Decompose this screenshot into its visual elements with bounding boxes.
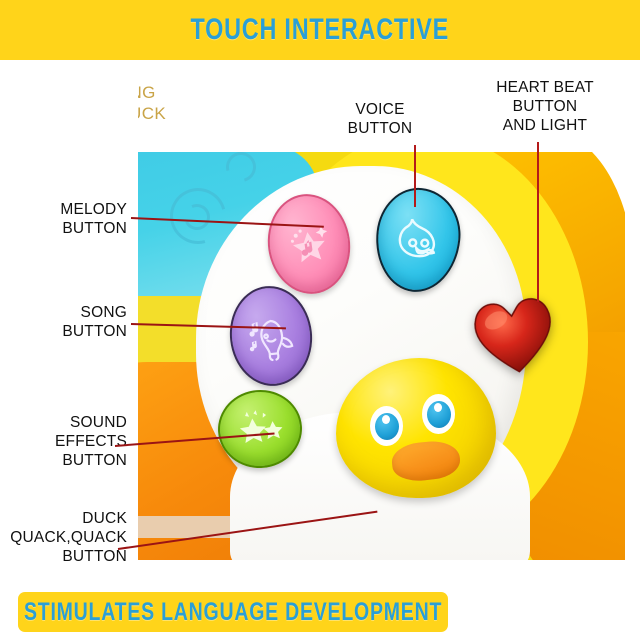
heart-icon — [462, 284, 565, 382]
leader-line-heart-beat — [537, 142, 539, 302]
infographic-page: TOUCH INTERACTIVE EQ FLAPPING YELLOW DUC… — [0, 0, 640, 640]
stars-icon — [231, 402, 288, 456]
duck-eye-right — [422, 394, 455, 434]
duck-eye-glint — [434, 403, 442, 412]
leader-line-voice — [414, 145, 416, 207]
duck-eye-left — [370, 406, 403, 446]
callout-label-duck-quack: DUCK QUACK,QUACK BUTTON — [4, 509, 127, 566]
callout-label-sound-effects: SOUND EFFECTS BUTTON — [12, 413, 127, 470]
duck-head-button[interactable] — [336, 358, 496, 498]
callout-label-heart-beat: HEART BEAT BUTTON AND LIGHT — [470, 78, 620, 135]
bird-music-note-icon — [239, 304, 303, 368]
duck-eye-glint — [382, 415, 390, 424]
photo-right-margin — [625, 60, 640, 560]
star-music-note-icon — [277, 212, 340, 275]
swirl-icon — [221, 152, 262, 187]
top-banner: TOUCH INTERACTIVE — [0, 0, 640, 60]
product-photo — [138, 152, 625, 560]
bottom-banner-text: STIMULATES LANGUAGE DEVELOPMENT — [24, 598, 442, 627]
callout-label-song: SONG BUTTON — [12, 303, 127, 341]
duck-face-icon — [384, 206, 452, 274]
top-banner-text: TOUCH INTERACTIVE — [191, 13, 450, 47]
duck-beak — [390, 439, 462, 484]
callout-label-melody: MELODY BUTTON — [12, 200, 127, 238]
callout-label-voice: VOICE BUTTON — [325, 100, 435, 138]
bottom-banner: STIMULATES LANGUAGE DEVELOPMENT — [18, 592, 448, 632]
heart-beat-button[interactable] — [462, 284, 565, 382]
